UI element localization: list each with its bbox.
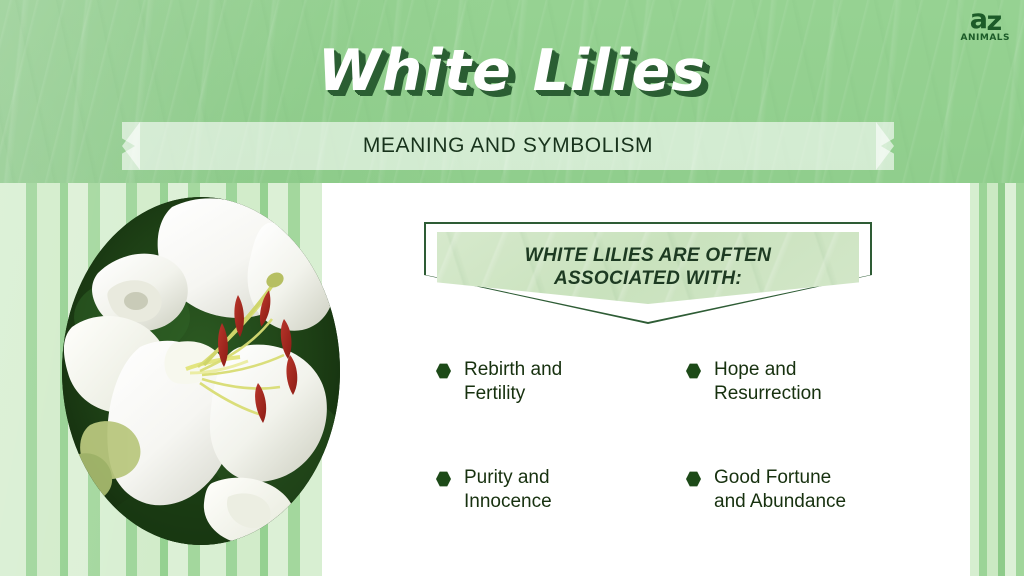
logo-wordmark: ANIMALS [961,34,1010,43]
list-item: Purity and Innocence [436,466,686,514]
logo-letter-z: z [987,6,1001,37]
logo-az-mark: az [961,6,1010,33]
page-title: White Lilies [0,38,1024,104]
callout-line-2: ASSOCIATED WITH: [424,267,872,290]
subtitle-ribbon-content: MEANING AND SYMBOLISM [122,122,894,170]
callout-text: WHITE LILIES ARE OFTEN ASSOCIATED WITH: [424,244,872,290]
list-item-label: Purity and Innocence [464,466,552,514]
hexagon-bullet-icon [686,363,701,379]
list-item: Rebirth and Fertility [436,358,686,466]
az-animals-logo[interactable]: az ANIMALS [961,6,1010,43]
logo-letter-a: a [970,4,987,35]
symbolism-list: Rebirth and Fertility Hope and Resurrect… [436,358,906,514]
callout-banner: WHITE LILIES ARE OFTEN ASSOCIATED WITH: [424,222,872,324]
page-subtitle: MEANING AND SYMBOLISM [363,134,653,158]
lily-photo [62,197,340,545]
list-item: Hope and Resurrection [686,358,906,466]
hexagon-bullet-icon [686,471,701,487]
list-item-label: Good Fortune and Abundance [714,466,846,514]
callout-line-1: WHITE LILIES ARE OFTEN [424,244,872,267]
hexagon-bullet-icon [436,471,451,487]
hexagon-bullet-icon [436,363,451,379]
list-item-label: Rebirth and Fertility [464,358,562,406]
list-item: Good Fortune and Abundance [686,466,906,514]
right-stripe-panel [970,183,1024,576]
lily-photo-illustration [62,197,340,545]
list-item-label: Hope and Resurrection [714,358,822,406]
infographic-poster: az ANIMALS White Lilies MEANING AND SYMB… [0,0,1024,576]
